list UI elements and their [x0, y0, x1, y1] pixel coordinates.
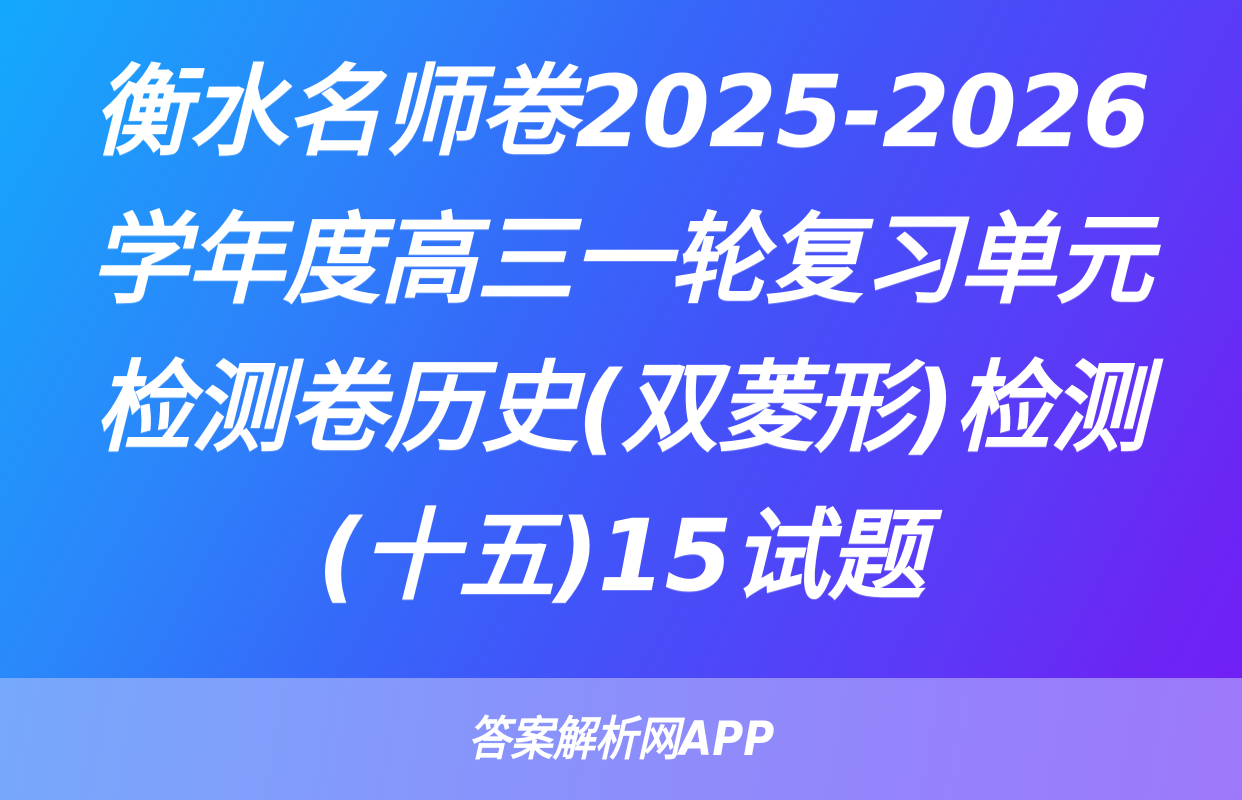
title-line-1: 衡水名师卷2025-2026: [55, 39, 1188, 187]
poster-canvas: 衡水名师卷2025-2026 学年度高三一轮复习单元 检测卷历史(双菱形)检测 …: [0, 0, 1242, 800]
title-line-3: 检测卷历史(双菱形)检测: [55, 335, 1188, 483]
watermark-label: 答案解析网APP: [468, 716, 774, 763]
title-line-2: 学年度高三一轮复习单元: [55, 187, 1188, 335]
title-line-4: (十五)15试题: [55, 483, 1188, 631]
poster-title-block: 衡水名师卷2025-2026 学年度高三一轮复习单元 检测卷历史(双菱形)检测 …: [0, 0, 1242, 678]
watermark-area: 答案解析网APP: [0, 678, 1242, 800]
